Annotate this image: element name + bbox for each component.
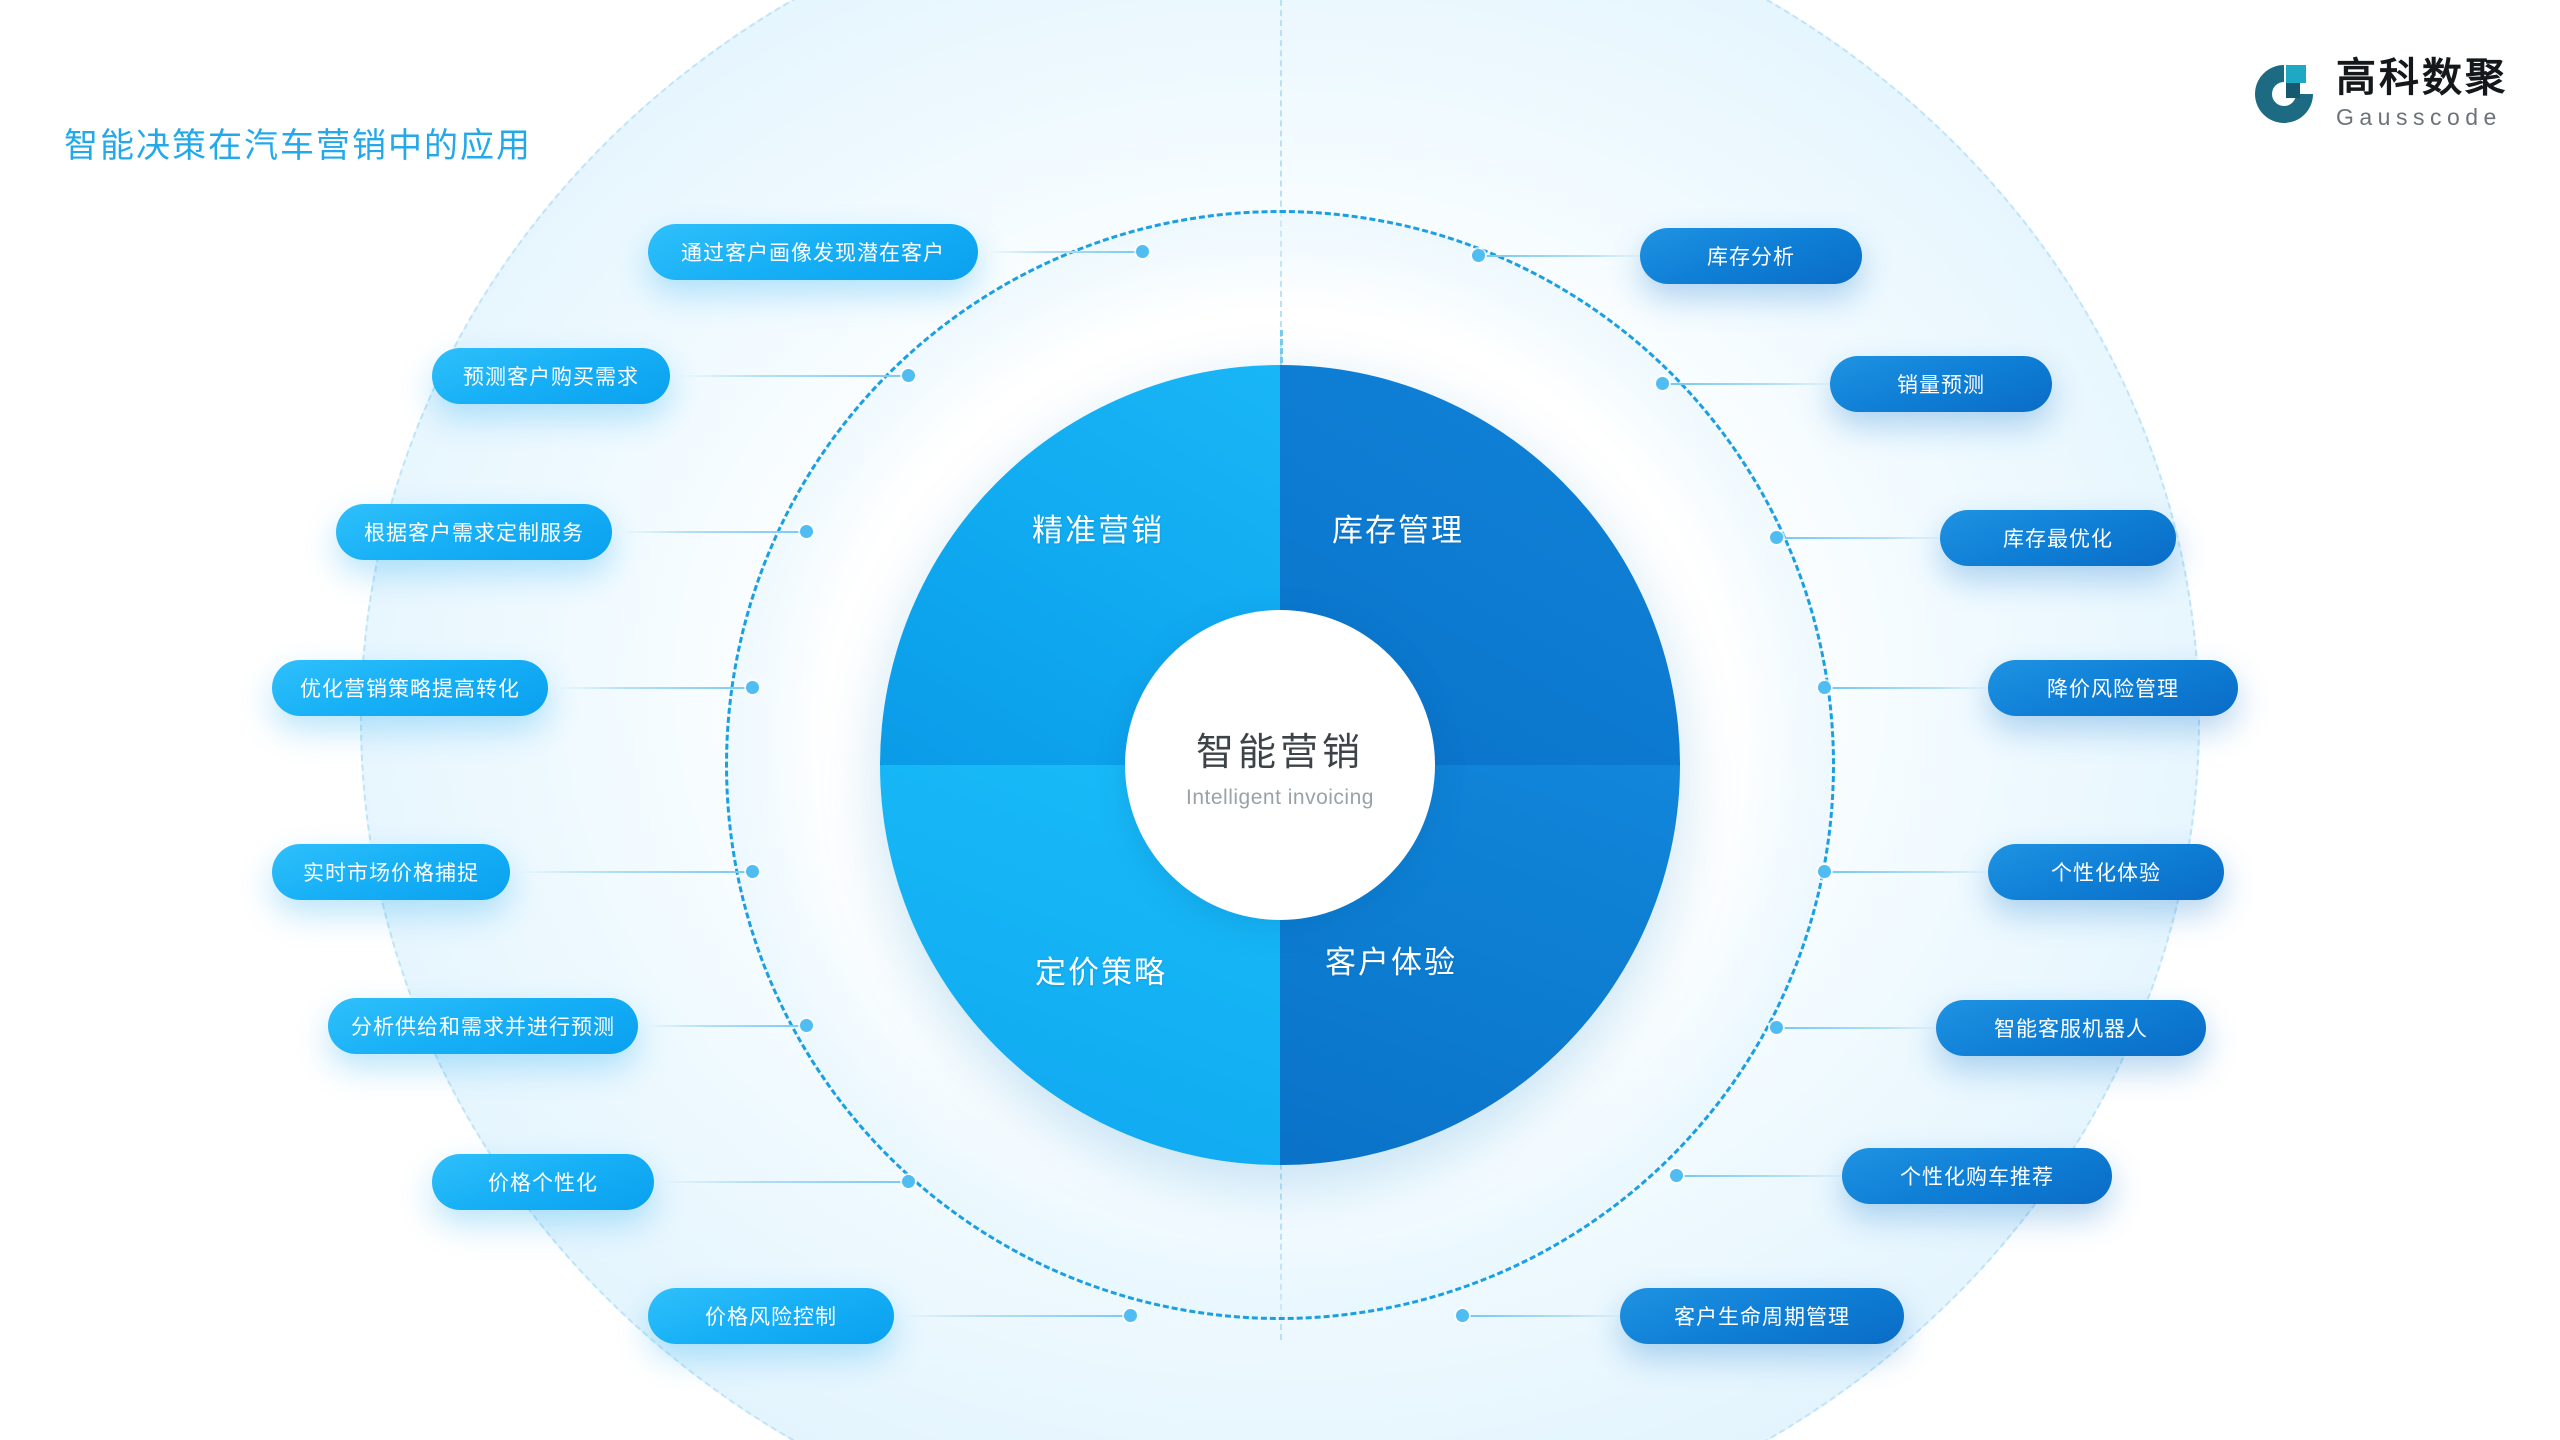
- brand-logo: 高科数聚 Gausscode: [2250, 58, 2508, 129]
- left-connector-0: [988, 251, 1146, 253]
- right-connector-dot-6: [1670, 1169, 1683, 1182]
- right-connector-dot-5: [1770, 1021, 1783, 1034]
- hub-title-cn: 智能营销: [1196, 721, 1364, 776]
- left-connector-dot-2: [800, 525, 813, 538]
- right-pill-6[interactable]: 个性化购车推荐: [1842, 1148, 2112, 1204]
- left-pill-7[interactable]: 价格风险控制: [648, 1288, 894, 1344]
- right-connector-3: [1832, 687, 1994, 689]
- right-connector-dot-3: [1818, 681, 1831, 694]
- left-connector-1: [678, 375, 912, 377]
- right-pill-0[interactable]: 库存分析: [1640, 228, 1862, 284]
- right-pill-1[interactable]: 销量预测: [1830, 356, 2052, 412]
- right-connector-1: [1670, 383, 1836, 385]
- left-pill-6[interactable]: 价格个性化: [432, 1154, 654, 1210]
- gausscode-logo-mark-icon: [2250, 60, 2318, 128]
- page-title: 智能决策在汽车营销中的应用: [64, 118, 532, 167]
- left-pill-3[interactable]: 优化营销策略提高转化: [272, 660, 548, 716]
- slide-canvas: 智能决策在汽车营销中的应用 高科数聚 Gausscode 精准营销 库存管理 定…: [0, 0, 2560, 1440]
- right-pill-2[interactable]: 库存最优化: [1940, 510, 2176, 566]
- left-connector-dot-4: [746, 865, 759, 878]
- quadrant-label-pricing-strategy: 定价策略: [1035, 947, 1167, 992]
- right-pill-5[interactable]: 智能客服机器人: [1936, 1000, 2206, 1056]
- center-hub[interactable]: 智能营销 Intelligent invoicing: [1125, 610, 1435, 920]
- left-pill-1[interactable]: 预测客户购买需求: [432, 348, 670, 404]
- left-connector-7: [902, 1315, 1134, 1317]
- main-donut-chart: 精准营销 库存管理 定价策略 客户体验 智能营销 Intelligent inv…: [880, 365, 1680, 1165]
- left-connector-dot-6: [902, 1175, 915, 1188]
- brand-name-en: Gausscode: [2336, 106, 2508, 129]
- brand-name-cn: 高科数聚: [2336, 58, 2508, 98]
- right-connector-4: [1832, 871, 1994, 873]
- right-connector-2: [1784, 537, 1946, 539]
- left-connector-dot-3: [746, 681, 759, 694]
- right-connector-6: [1684, 1175, 1848, 1177]
- left-connector-4: [518, 871, 756, 873]
- quadrant-label-customer-experience: 客户体验: [1325, 937, 1457, 982]
- left-pill-5[interactable]: 分析供给和需求并进行预测: [328, 998, 638, 1054]
- left-connector-3: [556, 687, 756, 689]
- left-connector-dot-7: [1124, 1309, 1137, 1322]
- left-connector-dot-5: [800, 1019, 813, 1032]
- right-pill-7[interactable]: 客户生命周期管理: [1620, 1288, 1904, 1344]
- left-pill-0[interactable]: 通过客户画像发现潜在客户: [648, 224, 978, 280]
- right-pill-4[interactable]: 个性化体验: [1988, 844, 2224, 900]
- brand-logo-text: 高科数聚 Gausscode: [2336, 58, 2508, 129]
- right-connector-dot-2: [1770, 531, 1783, 544]
- left-connector-dot-0: [1136, 245, 1149, 258]
- right-connector-0: [1486, 255, 1646, 257]
- right-pill-3[interactable]: 降价风险管理: [1988, 660, 2238, 716]
- right-connector-dot-4: [1818, 865, 1831, 878]
- left-pill-4[interactable]: 实时市场价格捕捉: [272, 844, 510, 900]
- quadrant-label-inventory-management: 库存管理: [1332, 505, 1464, 550]
- right-connector-5: [1784, 1027, 1942, 1029]
- hub-title-en: Intelligent invoicing: [1186, 786, 1374, 810]
- right-connector-dot-7: [1456, 1309, 1469, 1322]
- left-pill-2[interactable]: 根据客户需求定制服务: [336, 504, 612, 560]
- quadrant-label-precision-marketing: 精准营销: [1032, 505, 1164, 550]
- right-connector-dot-0: [1472, 249, 1485, 262]
- left-connector-5: [646, 1025, 810, 1027]
- left-connector-6: [662, 1181, 912, 1183]
- right-connector-7: [1470, 1315, 1626, 1317]
- left-connector-2: [620, 531, 810, 533]
